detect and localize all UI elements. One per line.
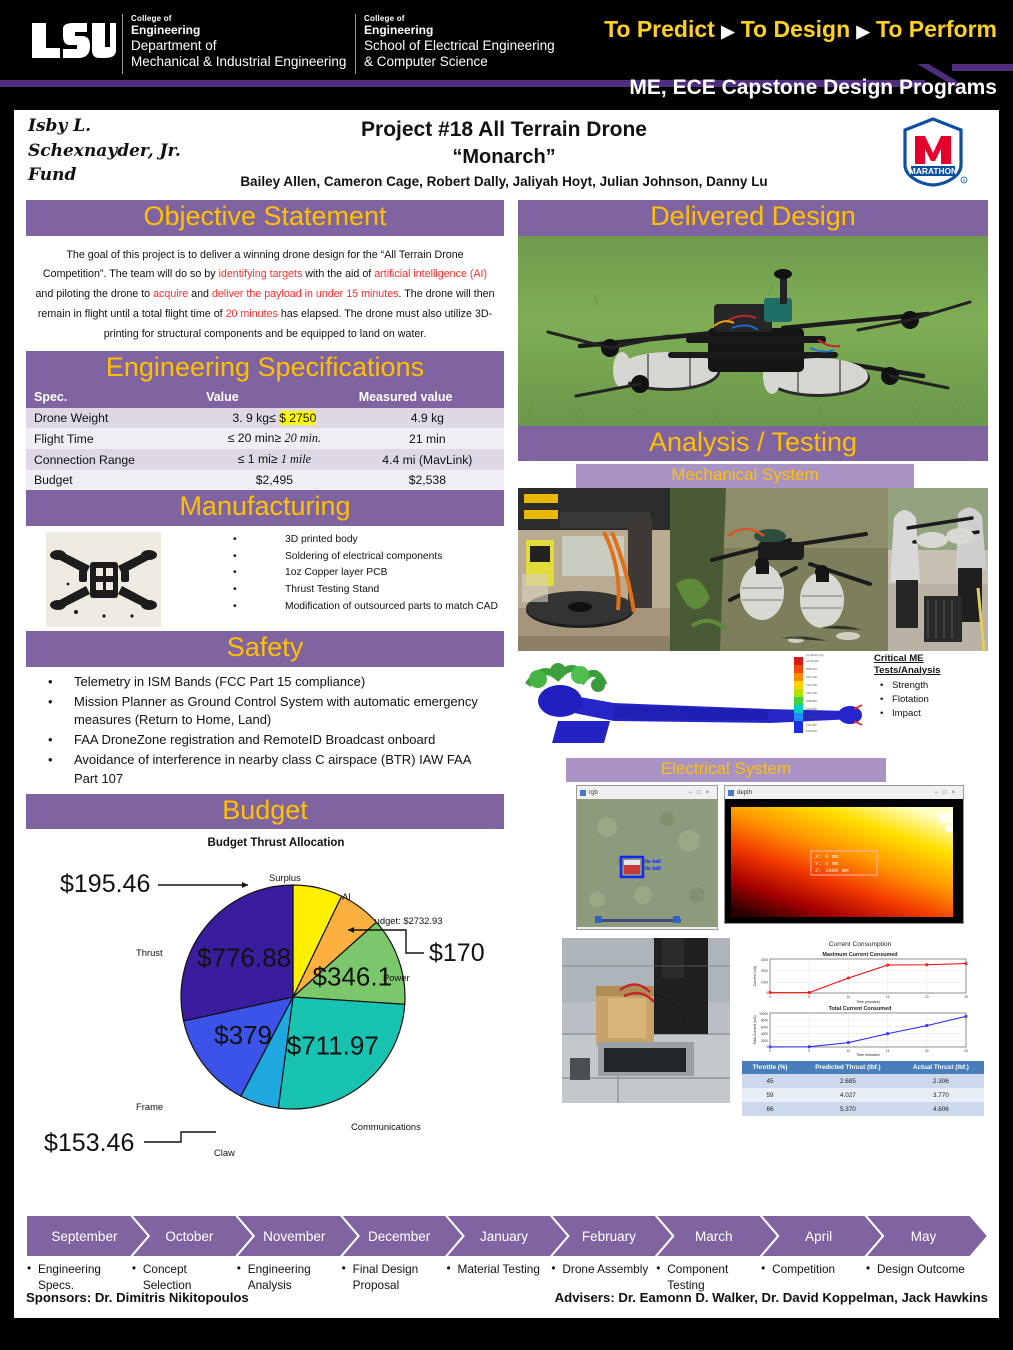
manufacturing-body: 3D printed bodySoldering of electrical c… (26, 526, 504, 631)
thrust-cell-1: 5.370 (798, 1102, 898, 1116)
spec-name: Drone Weight (26, 408, 198, 428)
advisers-label: Advisers: Dr. Eamonn D. Walker, Dr. Davi… (555, 1290, 988, 1305)
svg-text:0: 0 (769, 1049, 771, 1053)
thrust-results-table: Throttle (%) Predicted Thrust (lbf.) Act… (742, 1061, 984, 1116)
engineering-specifications-table: Spec. Value Measured value Drone Weight3… (26, 386, 504, 490)
page-subtitle: “Monarch” (194, 146, 814, 169)
rgb-detection-label-2: ite ball (645, 866, 661, 872)
window-app-icon-depth (728, 790, 734, 796)
safety-item: Avoidance of interference in nearby clas… (40, 751, 498, 789)
svg-text:5: 5 (808, 995, 810, 999)
svg-text:6000: 6000 (761, 1026, 768, 1030)
current-consumption-charts: Current Consumption Maximum Current Cons… (736, 938, 984, 1056)
depth-camera-feed: X: 0 mm Y: 0 mm Z: 1980 mm (725, 799, 963, 923)
svg-text:3000: 3000 (761, 958, 768, 962)
table-row: Drone Weight3. 9 kg≤ $ 27504.9 kg (26, 408, 504, 428)
students-holding-drone-photo (888, 488, 988, 651)
thrust-test-stand-photo (518, 488, 670, 651)
timeline-month-label: September (51, 1229, 118, 1244)
objective-fragment-3: artificial intelligence (AI) (374, 268, 487, 280)
table-row: Budget$2,495$2,538 (26, 470, 504, 490)
banner-rule-right (952, 64, 1013, 71)
depth-readout-x: X: 0 mm (815, 853, 839, 860)
table-row: Connection Range≤ 1 mi≥ 1 mile4.4 mi (Ma… (26, 449, 504, 470)
project-timeline: SeptemberOctoberNovemberDecemberJanuaryF… (26, 1215, 988, 1294)
svg-text:8471.200: 8471.200 (806, 675, 817, 679)
thrust-col-predicted: Predicted Thrust (lbf.) (798, 1061, 898, 1074)
spec-value: ≤ 20 min≥ 20 min. (198, 428, 351, 449)
spec-measured: $2,538 (351, 470, 504, 490)
manufacturing-item: Soldering of electrical components (233, 549, 498, 566)
rgb-detection-window[interactable]: rgb −□× ite ball (576, 785, 718, 930)
section-header-specifications: Engineering Specifications (26, 351, 504, 387)
page-title: Project #18 All Terrain Drone (194, 118, 814, 142)
department-ece-block: College of Engineering School of Electri… (355, 14, 555, 74)
critical-test-item: Flotation (874, 693, 988, 707)
manufacturing-item: Modification of outsourced parts to matc… (233, 599, 498, 616)
svg-text:0: 0 (769, 995, 771, 999)
rgb-window-titlebar: rgb −□× (577, 786, 717, 799)
manufacturing-frame-photo (46, 532, 161, 627)
svg-text:10: 10 (847, 1049, 851, 1053)
subplot-2-title: Total Current Consumed (829, 1006, 892, 1012)
spec-measured: 21 min (351, 428, 504, 449)
critical-title-line-2: Tests/Analysis (874, 665, 988, 677)
poster-footer: Sponsors: Dr. Dimitris Nikitopoulos Advi… (26, 1290, 988, 1305)
electrical-system-row-1: rgb −□× ite ball (518, 782, 988, 930)
svg-text:9558.101: 9558.101 (806, 667, 817, 671)
safety-list: Telemetry in ISM Bands (FCC Part 15 comp… (26, 667, 504, 794)
highlighted-value: $ 2750 (279, 411, 316, 425)
col-spec: Spec. (26, 386, 198, 408)
tagline-predict: To Predict (604, 16, 715, 42)
subplot-2-xlabel: Time (minutes) (856, 1053, 880, 1056)
objective-fragment-6: and (188, 288, 212, 300)
objective-fragment-7: deliver the payload in under 15 minutes (212, 288, 399, 300)
thrust-header-row: Throttle (%) Predicted Thrust (lbf.) Act… (742, 1061, 984, 1074)
svg-text:5298.500: 5298.500 (806, 699, 817, 703)
svg-text:10749.400: 10749.400 (806, 659, 819, 663)
svg-text:1059.000: 1059.000 (806, 729, 817, 733)
depth-window-title: depth (737, 790, 934, 796)
poster-canvas: Isby L. Schexnayder, Jr. Fund Project #1… (14, 110, 999, 1318)
dept-me-college: College of (131, 14, 346, 23)
svg-text:von Mises (psi): von Mises (psi) (806, 653, 824, 657)
spec-value: ≤ 1 mi≥ 1 mile (198, 449, 351, 470)
dept-me-engineering: Engineering (131, 23, 346, 37)
subplot-2-ylabel: Total Current (mA) (753, 1016, 757, 1045)
spec-measured: 4.9 kg (351, 408, 504, 428)
timeline-month-label: November (263, 1229, 326, 1244)
sponsors-label: Sponsors: Dr. Dimitris Nikitopoulos (26, 1290, 249, 1305)
table-header-row: Spec. Value Measured value (26, 386, 504, 408)
dept-ece-college: College of (364, 14, 555, 23)
table-row: 665.3704.606 (742, 1102, 984, 1116)
svg-text:10: 10 (847, 995, 851, 999)
subplot-1-xlabel: Time (minutes) (856, 1000, 880, 1004)
svg-text:4239.800: 4239.800 (806, 707, 817, 711)
table-row: Flight Time≤ 20 min≥ 20 min.21 min (26, 428, 504, 449)
lsu-logo (30, 22, 118, 60)
thrust-cell-0: 66 (742, 1102, 798, 1116)
subsection-header-electrical: Electrical System (566, 758, 886, 782)
tagline-design: To Design (741, 16, 850, 42)
manufacturing-list: 3D printed bodySoldering of electrical c… (233, 532, 498, 615)
spec-name: Connection Range (26, 449, 198, 470)
poster-title-row: Isby L. Schexnayder, Jr. Fund Project #1… (14, 110, 999, 198)
timeline-month-label: October (165, 1229, 214, 1244)
svg-text:3176.700: 3176.700 (806, 715, 817, 719)
spec-name: Flight Time (26, 428, 198, 449)
objective-fragment-9: 20 minutes (226, 308, 278, 320)
banner-programs-label: ME, ECE Capstone Design Programs (629, 76, 997, 100)
thrust-cell-0: 45 (742, 1074, 798, 1088)
pie-callout-leader-lines (26, 829, 504, 1159)
svg-text:8000: 8000 (761, 1019, 768, 1023)
svg-text:6355.400: 6355.400 (806, 691, 817, 695)
depth-window-controls-icon[interactable]: −□× (934, 790, 960, 796)
svg-text:7412.500: 7412.500 (806, 683, 817, 687)
dept-ece-line1: School of Electrical Engineering (364, 38, 555, 54)
svg-text:2000: 2000 (761, 969, 768, 973)
thrust-cell-0: 59 (742, 1088, 798, 1102)
delivered-design-photo (518, 236, 988, 426)
objective-fragment-1: identifying targets (219, 268, 303, 280)
fea-stress-plot: von Mises (psi) 10749.4009558.101 8471.2… (518, 651, 870, 756)
timeline-month-label: May (911, 1229, 937, 1244)
right-column: Delivered Design (518, 200, 988, 1125)
fund-line-2: Schexnayder, Jr. (28, 139, 181, 164)
objective-fragment-4: and piloting the drone to (35, 288, 153, 300)
thrust-cell-1: 2.685 (798, 1074, 898, 1088)
spec-value: $2,495 (198, 470, 351, 490)
thrust-col-throttle: Throttle (%) (742, 1061, 798, 1074)
triangle-right-icon: ▶ (721, 22, 734, 41)
timeline-month-label: February (582, 1229, 636, 1244)
svg-text:10000: 10000 (759, 1012, 768, 1016)
critical-test-item: Strength (874, 679, 988, 693)
svg-text:0: 0 (766, 991, 768, 995)
critical-me-tests-box: Critical ME Tests/Analysis StrengthFlota… (870, 651, 988, 756)
italic-value: 20 min. (284, 431, 321, 445)
critical-title-line-1: Critical ME (874, 653, 988, 665)
window-app-icon (580, 790, 586, 796)
section-header-analysis-testing: Analysis / Testing (518, 426, 988, 462)
author-list: Bailey Allen, Cameron Cage, Robert Dally… (144, 174, 864, 189)
manufacturing-item: 3D printed body (233, 532, 498, 549)
critical-tests-list: StrengthFlotationImpact (874, 679, 988, 721)
fund-line-1: Isby L. (28, 114, 181, 139)
left-column: Objective Statement The goal of this pro… (26, 200, 504, 1129)
section-header-delivered-design: Delivered Design (518, 200, 988, 236)
marathon-wordmark: MARATHON (909, 166, 957, 176)
thrust-cell-2: 3.770 (898, 1088, 984, 1102)
objective-fragment-2: with the aid of (302, 268, 374, 280)
drone-flotation-water-photo (670, 488, 888, 651)
triangle-right-icon-2: ▶ (857, 22, 870, 41)
timeline-month-label: January (480, 1229, 528, 1244)
tagline-perform: To Perform (876, 16, 997, 42)
dept-ece-line2: & Computer Science (364, 54, 555, 70)
current-chart-title: Current Consumption (829, 941, 892, 948)
depth-camera-window[interactable]: depth −□× (724, 785, 964, 924)
subplot-1-ylabel: Current (mA) (753, 966, 757, 987)
rgb-window-title: rgb (589, 790, 688, 796)
thrust-col-actual: Actual Thrust (lbf.) (898, 1061, 984, 1074)
spec-name: Budget (26, 470, 198, 490)
col-value: Value (198, 386, 351, 408)
depth-window-titlebar: depth −□× (725, 786, 963, 799)
banner-tagline: To Predict ▶ To Design ▶ To Perform (604, 16, 997, 43)
top-banner: College of Engineering Department of Mec… (0, 0, 1013, 108)
svg-text:0: 0 (766, 1045, 768, 1049)
dept-me-line2: Mechanical & Industrial Engineering (131, 54, 346, 70)
section-header-objective: Objective Statement (26, 200, 504, 236)
spec-measured: 4.4 mi (MavLink) (351, 449, 504, 470)
svg-text:R: R (963, 178, 966, 183)
section-header-safety: Safety (26, 631, 504, 667)
timeline-month-label: April (805, 1229, 832, 1244)
svg-text:4000: 4000 (761, 1032, 768, 1036)
svg-text:1000: 1000 (761, 981, 768, 985)
dept-ece-engineering: Engineering (364, 23, 555, 37)
marathon-sponsor-logo: MARATHON R (880, 113, 986, 191)
spec-value: 3. 9 kg≤ $ 2750 (198, 408, 351, 428)
mechanical-system-photos (518, 488, 988, 651)
manufacturing-item: Thrust Testing Stand (233, 582, 498, 599)
col-measured: Measured value (351, 386, 504, 408)
manufacturing-item: 1oz Copper layer PCB (233, 565, 498, 582)
section-header-manufacturing: Manufacturing (26, 490, 504, 526)
table-row: 594.0273.770 (742, 1088, 984, 1102)
department-me-block: College of Engineering Department of Mec… (122, 14, 346, 74)
subplot-1-title: Maximum Current Consumed (822, 952, 897, 958)
objective-fragment-5: acquire (153, 288, 188, 300)
section-header-budget: Budget (26, 794, 504, 830)
svg-text:20: 20 (925, 1049, 929, 1053)
table-row: 452.6852.306 (742, 1074, 984, 1088)
timeline-chevrons: SeptemberOctoberNovemberDecemberJanuaryF… (26, 1215, 988, 1257)
rgb-detection-label-1: ite ball (645, 859, 661, 865)
objective-statement-text: The goal of this project is to deliver a… (26, 236, 504, 351)
window-controls-icon[interactable]: −□× (688, 790, 714, 796)
timeline-chevron-svg: SeptemberOctoberNovemberDecemberJanuaryF… (26, 1215, 988, 1257)
svg-text:5: 5 (808, 1049, 810, 1053)
rgb-camera-feed: ite ball ite ball (577, 799, 717, 927)
subsection-header-mechanical: Mechanical System (576, 464, 914, 488)
timeline-month-label: March (695, 1229, 733, 1244)
depth-readout-z: Z: 1980 mm (815, 867, 849, 874)
depth-readout-y: Y: 0 mm (815, 860, 839, 867)
svg-text:25: 25 (964, 995, 968, 999)
thrust-cell-1: 4.027 (798, 1088, 898, 1102)
safety-item: Telemetry in ISM Bands (FCC Part 15 comp… (40, 673, 498, 692)
timeline-month-label: December (368, 1229, 431, 1244)
safety-item: Mission Planner as Ground Control System… (40, 693, 498, 731)
electrical-system-row-2: Current Consumption Maximum Current Cons… (518, 930, 988, 1125)
italic-value: 1 mile (281, 452, 311, 466)
budget-pie-chart: Budget Thrust Allocation Total Budget: $… (26, 829, 504, 1129)
svg-text:20: 20 (925, 995, 929, 999)
safety-item: FAA DroneZone registration and RemoteID … (40, 731, 498, 750)
svg-text:25: 25 (964, 1049, 968, 1053)
svg-text:2117.900: 2117.900 (806, 723, 817, 727)
svg-text:15: 15 (886, 1049, 890, 1053)
dept-me-line1: Department of (131, 38, 346, 54)
thrust-cell-2: 4.606 (898, 1102, 984, 1116)
svg-text:2000: 2000 (761, 1039, 768, 1043)
fea-analysis-row: von Mises (psi) 10749.4009558.101 8471.2… (518, 651, 988, 756)
svg-text:15: 15 (886, 995, 890, 999)
thrust-cell-2: 2.306 (898, 1074, 984, 1088)
claw-payload-test-photo (562, 938, 730, 1103)
critical-test-item: Impact (874, 707, 988, 721)
